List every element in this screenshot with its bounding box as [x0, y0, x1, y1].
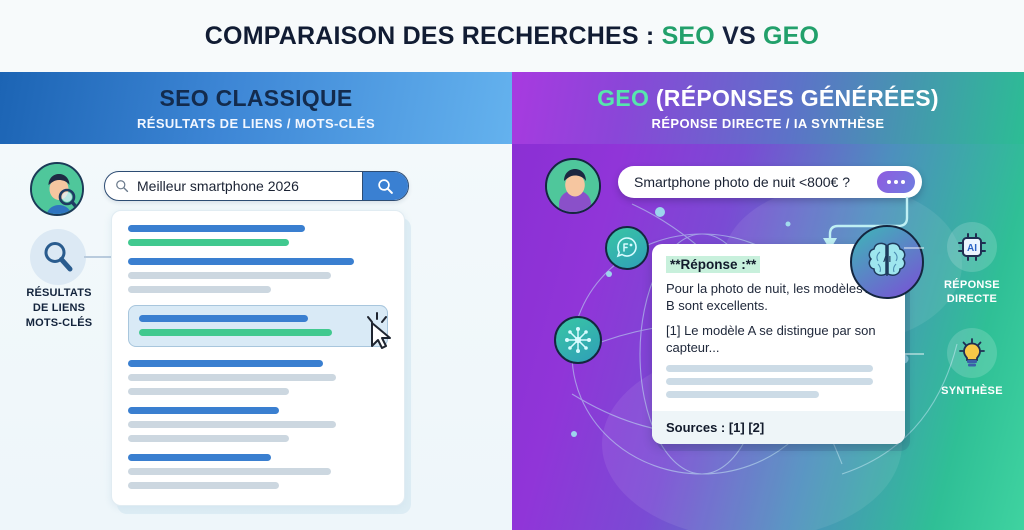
panels-container: Meilleur smartphone 2026 RÉSULTATS	[0, 144, 1024, 530]
result-snippet-line	[128, 435, 289, 442]
side-item-synthese: SYNTHÈSE	[920, 328, 1024, 398]
search-bar[interactable]: Meilleur smartphone 2026	[104, 171, 409, 201]
result-item[interactable]	[128, 454, 388, 489]
panel-seo-classique: Meilleur smartphone 2026 RÉSULTATS	[0, 144, 512, 530]
result-snippet-line	[128, 272, 331, 279]
ai-answer-sources[interactable]: Sources : [1] [2]	[652, 411, 905, 444]
banner-left-subtitle: RÉSULTATS DE LIENS / MOTS-CLÉS	[137, 116, 375, 131]
banner-right-subtitle: RÉPONSE DIRECTE / IA SYNTHÈSE	[652, 116, 885, 131]
magnifier-icon	[39, 238, 77, 276]
result-snippet-line	[128, 482, 279, 489]
prompt-input-bubble[interactable]: Smartphone photo de nuit <800€ ?	[618, 166, 922, 198]
search-submit-button[interactable]	[362, 172, 408, 200]
ai-answer-heading: **Réponse :**	[666, 256, 760, 273]
dot	[894, 180, 898, 184]
ai-chip-icon: AI	[947, 222, 997, 272]
result-item[interactable]	[128, 360, 388, 395]
result-title-bar	[128, 225, 305, 232]
banner-right-title-rest: (RÉPONSES GÉNÉRÉES)	[649, 85, 939, 111]
search-icon	[377, 178, 394, 195]
result-snippet-line	[128, 468, 331, 475]
result-title-bar	[128, 360, 323, 367]
banner-left-seo: SEO CLASSIQUE RÉSULTATS DE LIENS / MOTS-…	[0, 72, 512, 144]
dot	[887, 180, 891, 184]
result-title-bar	[139, 315, 308, 322]
side-item-label: RÉPONSE DIRECTE	[920, 278, 1024, 307]
svg-text:AI: AI	[883, 255, 891, 264]
page-title-vs: VS	[715, 22, 763, 50]
search-icon	[115, 179, 129, 193]
side-label-line-1: RÉPONSE	[920, 278, 1024, 292]
result-snippet-line	[128, 388, 289, 395]
banner-left-title: SEO CLASSIQUE	[159, 85, 352, 112]
placeholder-line	[666, 378, 873, 385]
result-title-bar	[128, 454, 271, 461]
ai-answer-placeholder-lines	[666, 365, 891, 398]
result-item[interactable]	[128, 225, 388, 246]
results-legend-badge	[30, 229, 86, 285]
dot	[901, 180, 905, 184]
placeholder-line	[666, 391, 819, 398]
comparison-banner: SEO CLASSIQUE RÉSULTATS DE LIENS / MOTS-…	[0, 72, 1024, 144]
results-legend-label: RÉSULTATS DE LIENS MOTS-CLÉS	[4, 286, 114, 331]
ai-answer-paragraph-2: [1] Le modèle A se distingue par son cap…	[666, 322, 891, 356]
side-item-reponse-directe: AI RÉPONSE DIRECTE	[920, 222, 1024, 307]
side-label-line-2: DIRECTE	[920, 292, 1024, 306]
banner-right-title: GEO (RÉPONSES GÉNÉRÉES)	[597, 85, 939, 112]
ai-chat-node-icon	[605, 226, 649, 270]
page-header: COMPARAISON DES RECHERCHES : SEO VS GEO	[0, 0, 1024, 72]
result-item-highlighted[interactable]	[128, 305, 388, 347]
legend-line-1: RÉSULTATS	[4, 286, 114, 301]
search-results-card	[111, 210, 405, 506]
result-item[interactable]	[128, 407, 388, 442]
user-avatar-icon	[545, 158, 601, 214]
result-snippet-line	[128, 421, 336, 428]
prompt-input[interactable]: Smartphone photo de nuit <800€ ?	[634, 174, 850, 190]
panel-geo-generative: Smartphone photo de nuit <800€ ?	[512, 144, 1024, 530]
result-snippet-line	[128, 374, 336, 381]
side-label-line-1: SYNTHÈSE	[920, 384, 1024, 398]
result-item[interactable]	[128, 258, 388, 293]
lightbulb-icon	[947, 328, 997, 378]
banner-right-geo: GEO (RÉPONSES GÉNÉRÉES) RÉPONSE DIRECTE …	[512, 72, 1024, 144]
legend-line-3: MOTS-CLÉS	[4, 316, 114, 331]
result-url-bar	[128, 239, 289, 246]
result-snippet-line	[128, 286, 271, 293]
side-item-label: SYNTHÈSE	[920, 384, 1024, 398]
infographic-root: COMPARAISON DES RECHERCHES : SEO VS GEO …	[0, 0, 1024, 530]
page-title-seo: SEO	[662, 22, 715, 50]
page-title-prefix: COMPARAISON DES RECHERCHES :	[205, 22, 662, 50]
click-cursor-icon	[359, 310, 395, 350]
svg-text:AI: AI	[967, 243, 977, 254]
more-options-icon[interactable]	[877, 171, 915, 193]
ai-brain-icon: AI	[850, 225, 924, 299]
legend-connector-line	[84, 256, 112, 258]
user-avatar-with-magnifier-icon	[30, 162, 84, 216]
legend-line-2: DE LIENS	[4, 301, 114, 316]
page-title-geo: GEO	[763, 22, 819, 50]
result-url-bar	[139, 329, 332, 336]
network-node-icon	[554, 316, 602, 364]
placeholder-line	[666, 365, 873, 372]
result-title-bar	[128, 258, 354, 265]
banner-right-title-geo: GEO	[597, 85, 649, 111]
result-title-bar	[128, 407, 279, 414]
search-input[interactable]: Meilleur smartphone 2026	[137, 178, 362, 194]
page-title: COMPARAISON DES RECHERCHES : SEO VS GEO	[205, 22, 819, 51]
